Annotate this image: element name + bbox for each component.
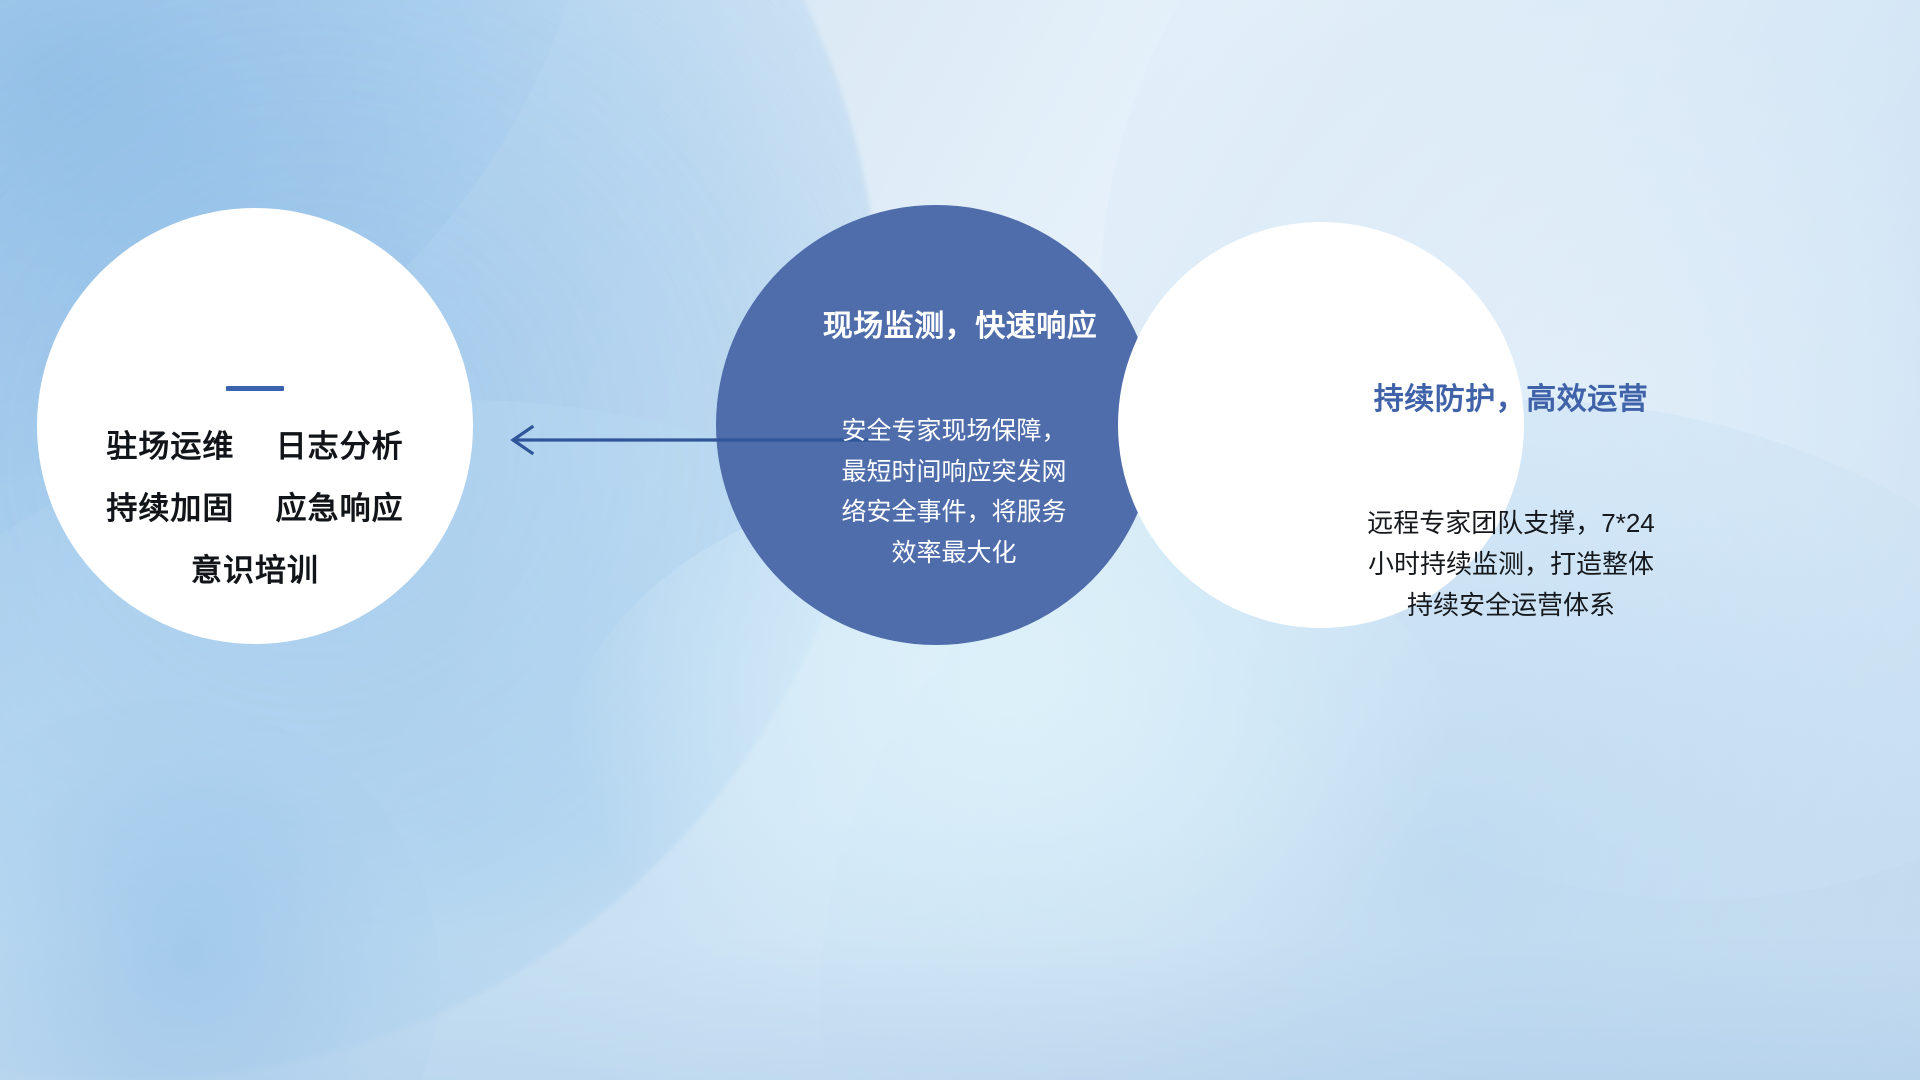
divider-dash-icon [226, 386, 284, 391]
left-circle-item-1b: 日志分析 [276, 429, 404, 464]
left-circle-item-3a: 意识培训 [191, 553, 319, 588]
middle-circle-title: 现场监测，快速响应 [823, 301, 1098, 345]
middle-body-line: 络安全事件，将服务 [804, 492, 1104, 533]
right-circle-title: 持续防护，高效运营 [1308, 374, 1714, 418]
right-circle-content: 持续防护，高效运营 远程专家团队支撑，7*24 小时持续监测，打造整体 持续安全… [1118, 222, 1524, 628]
slide-canvas: 驻场运维 日志分析 持续加固 应急响应 意识培训 现场监测，快速响应 安全专家现… [0, 0, 1920, 1080]
left-circle-line-1: 驻场运维 日志分析 [106, 431, 403, 462]
right-body-line: 远程专家团队支撑，7*24 [1308, 503, 1714, 544]
left-circle-content: 驻场运维 日志分析 持续加固 应急响应 意识培训 [37, 208, 473, 644]
middle-body-line: 安全专家现场保障， [804, 411, 1104, 452]
left-circle-item-1a: 驻场运维 [106, 429, 234, 464]
left-circle-line-3: 意识培训 [191, 555, 319, 586]
left-circle-item-2b: 应急响应 [276, 491, 404, 526]
right-body-line: 小时持续监测，打造整体 [1308, 544, 1714, 585]
left-circle-line-2: 持续加固 应急响应 [106, 493, 403, 524]
middle-body-line: 最短时间响应突发网 [804, 452, 1104, 493]
middle-body-line: 效率最大化 [804, 533, 1104, 574]
middle-circle-content: 现场监测，快速响应 安全专家现场保障， 最短时间响应突发网 络安全事件，将服务 … [716, 205, 1156, 645]
left-circle-item-2a: 持续加固 [106, 491, 234, 526]
right-circle-body: 远程专家团队支撑，7*24 小时持续监测，打造整体 持续安全运营体系 [1308, 503, 1714, 626]
right-body-line: 持续安全运营体系 [1308, 585, 1714, 626]
middle-circle-body: 安全专家现场保障， 最短时间响应突发网 络安全事件，将服务 效率最大化 [804, 411, 1104, 573]
